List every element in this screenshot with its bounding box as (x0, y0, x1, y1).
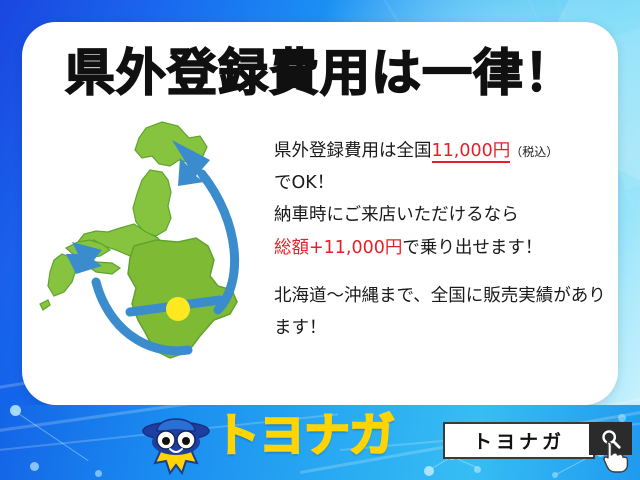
search-input[interactable]: トヨナガ (443, 422, 595, 459)
banner-dot (30, 462, 39, 471)
price-highlight: 11,000円 (432, 141, 511, 163)
copy-spacer (274, 264, 614, 280)
honshu-north-shape (133, 170, 171, 236)
hand-pointer-icon (601, 440, 631, 474)
copy-line-2: でOK！ (274, 167, 614, 199)
search-input-value: トヨナガ (473, 427, 565, 454)
copy-line-4: 総額+11,000円で乗り出せます！ (274, 232, 614, 264)
mascot-pupil-left (162, 437, 170, 445)
banner-dot (95, 470, 102, 477)
total-price-highlight: 総額+11,000円 (274, 238, 402, 258)
poster-root: 県外登録費用は一律！ (0, 0, 640, 480)
content-card: 県外登録費用は一律！ (22, 22, 618, 405)
page-title: 県外登録費用は一律！ (22, 48, 618, 98)
copy-line-4-suffix: で乗り出せます！ (402, 238, 542, 258)
location-marker (166, 297, 190, 321)
tax-note: （税込） (510, 145, 558, 159)
banner-dot (618, 414, 626, 422)
copy-line-1: 県外登録費用は全国11,000円（税込） (274, 135, 614, 167)
japan-map-illustration (38, 114, 274, 384)
copy-line-1-prefix: 県外登録費用は全国 (274, 141, 432, 161)
brand-logo-text: トヨナガ (214, 412, 394, 458)
copy-line-5: 北海道〜沖縄まで、全国に販売実績があります！ (274, 280, 614, 344)
copy-line-3: 納車時にご来店いただけるなら (274, 199, 614, 231)
mascot-icon (139, 409, 213, 475)
mascot-pupil-right (182, 437, 190, 445)
okinawa-shape (40, 300, 50, 310)
body-copy: 県外登録費用は全国11,000円（税込） でOK！ 納車時にご来店いただけるなら… (274, 135, 614, 344)
